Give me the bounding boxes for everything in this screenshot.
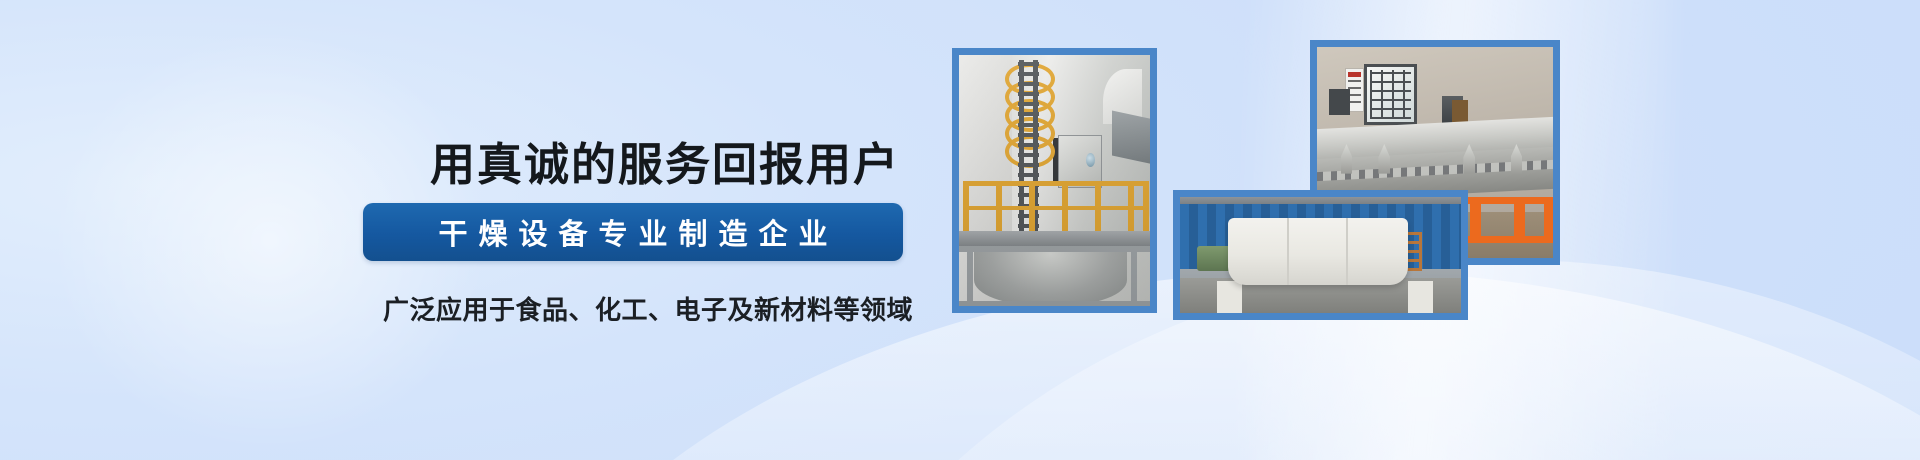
- banner-subline: 广泛应用于食品、化工、电子及新材料等领域: [383, 290, 913, 327]
- banner-headline: 用真诚的服务回报用户: [430, 128, 900, 193]
- banner-slogan-label: 干燥设备专业制造企业: [427, 211, 838, 253]
- banner-slogan-pill: 干燥设备专业制造企业: [363, 203, 903, 261]
- photo-ribbon-mixer: [1173, 190, 1468, 320]
- photo-spray-dryer-tower: [952, 48, 1157, 313]
- banner-copy: 用真诚的服务回报用户 干燥设备专业制造企业 广泛应用于食品、化工、电子及新材料等…: [0, 0, 950, 460]
- promo-banner: 用真诚的服务回报用户 干燥设备专业制造企业 广泛应用于食品、化工、电子及新材料等…: [0, 0, 1920, 460]
